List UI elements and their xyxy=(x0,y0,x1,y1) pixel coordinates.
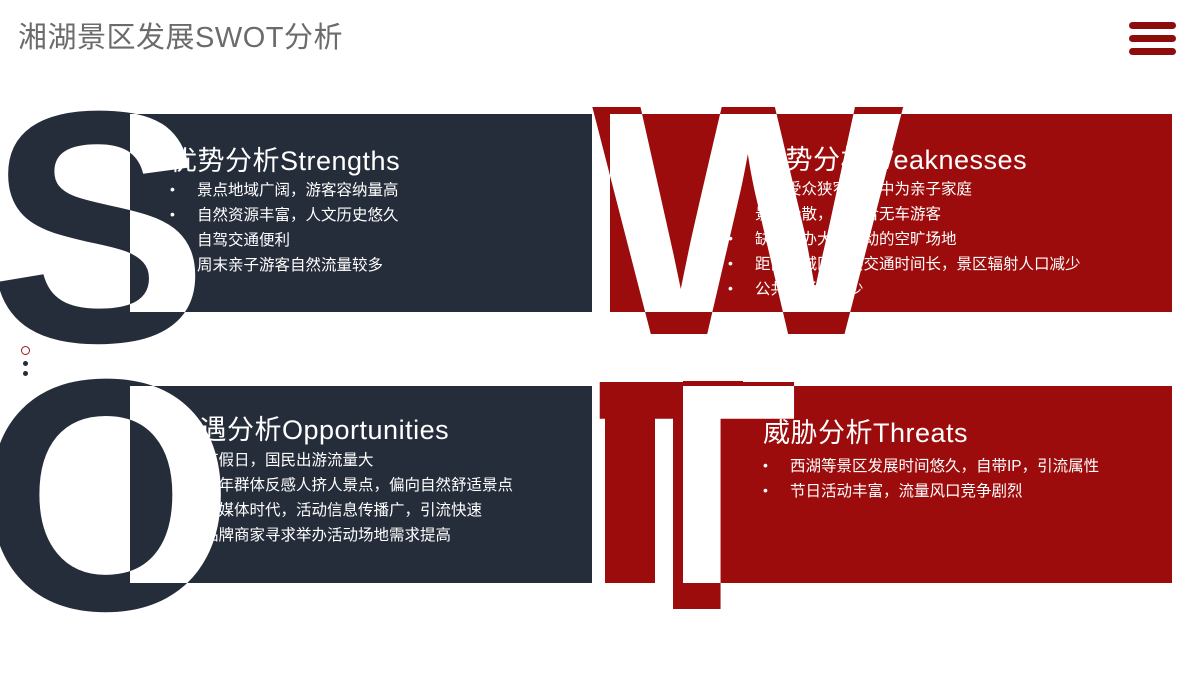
list-item: 景点分散，不适合无车游客 xyxy=(724,202,1081,227)
swot-slide: 湘湖景区发展SWOT分析 S O W T 优势分析Strengths 景点地域广… xyxy=(0,0,1200,675)
opportunities-heading: 机遇分析Opportunities xyxy=(172,408,449,447)
list-item: 青年群体反感人挤人景点，偏向自然舒适景点 xyxy=(172,473,513,498)
threats-content: 威胁分析Threats 西湖等景区发展时间悠久，自带IP，引流属性 节日活动丰富… xyxy=(683,386,1172,583)
menu-bar-3 xyxy=(1129,48,1176,55)
list-item: 品牌商家寻求举办活动场地需求提高 xyxy=(172,523,513,548)
circle-outline-icon xyxy=(21,346,30,355)
strengths-bullet-list: 景点地域广阔，游客容纳量高 自然资源丰富，人文历史悠久 自驾交通便利 周末亲子游… xyxy=(166,178,399,278)
hamburger-menu-icon[interactable] xyxy=(1129,22,1176,55)
page-title: 湘湖景区发展SWOT分析 xyxy=(18,14,343,56)
menu-bar-2 xyxy=(1129,35,1176,42)
list-item: 自驾交通便利 xyxy=(166,228,399,253)
weaknesses-bullet-list: 游客受众狭窄—集中为亲子家庭 景点分散，不适合无车游客 缺少举办大型活动的空旷场… xyxy=(724,177,1081,302)
list-item: 节日活动丰富，流量风口竞争剧烈 xyxy=(759,479,1099,504)
strengths-content: 优势分析Strengths 景点地域广阔，游客容纳量高 自然资源丰富，人文历史悠… xyxy=(130,114,592,312)
weaknesses-heading: 劣势分析Weaknesses xyxy=(758,138,1027,177)
list-item: 距离主城区公共交通时间长，景区辐射人口减少 xyxy=(724,252,1081,277)
list-item: 西湖等景区发展时间悠久，自带IP，引流属性 xyxy=(759,454,1099,479)
list-item: 节假日，国民出游流量大 xyxy=(172,448,513,473)
threats-bullet-list: 西湖等景区发展时间悠久，自带IP，引流属性 节日活动丰富，流量风口竞争剧烈 xyxy=(759,454,1099,504)
list-item: 游客受众狭窄—集中为亲子家庭 xyxy=(724,177,1081,202)
quadrant-strengths: 优势分析Strengths 景点地域广阔，游客容纳量高 自然资源丰富，人文历史悠… xyxy=(130,114,592,312)
list-item: 景点地域广阔，游客容纳量高 xyxy=(166,178,399,203)
list-item: 缺少举办大型活动的空旷场地 xyxy=(724,227,1081,252)
quadrant-threats: 威胁分析Threats 西湖等景区发展时间悠久，自带IP，引流属性 节日活动丰富… xyxy=(683,386,1172,583)
menu-bar-1 xyxy=(1129,22,1176,29)
quadrant-weaknesses: 劣势分析Weaknesses 游客受众狭窄—集中为亲子家庭 景点分散，不适合无车… xyxy=(610,114,1172,312)
opportunities-content: 机遇分析Opportunities 节假日，国民出游流量大 青年群体反感人挤人景… xyxy=(130,386,592,583)
weaknesses-content: 劣势分析Weaknesses 游客受众狭窄—集中为亲子家庭 景点分散，不适合无车… xyxy=(610,114,1172,312)
vertical-ellipsis-marker xyxy=(21,346,33,380)
list-item: 公共交通选择少 xyxy=(724,277,1081,302)
opportunities-bullet-list: 节假日，国民出游流量大 青年群体反感人挤人景点，偏向自然舒适景点 自媒体时代，活… xyxy=(172,448,513,548)
quadrant-opportunities: 机遇分析Opportunities 节假日，国民出游流量大 青年群体反感人挤人景… xyxy=(130,386,592,583)
strengths-heading: 优势分析Strengths xyxy=(170,139,400,178)
threats-letter-stem xyxy=(605,411,655,583)
list-item: 自媒体时代，活动信息传播广，引流快速 xyxy=(172,498,513,523)
list-item: 自然资源丰富，人文历史悠久 xyxy=(166,203,399,228)
threats-heading: 威胁分析Threats xyxy=(763,411,968,450)
dot-icon-2 xyxy=(23,371,28,376)
dot-icon-1 xyxy=(23,361,28,366)
list-item: 周末亲子游客自然流量较多 xyxy=(166,253,399,278)
